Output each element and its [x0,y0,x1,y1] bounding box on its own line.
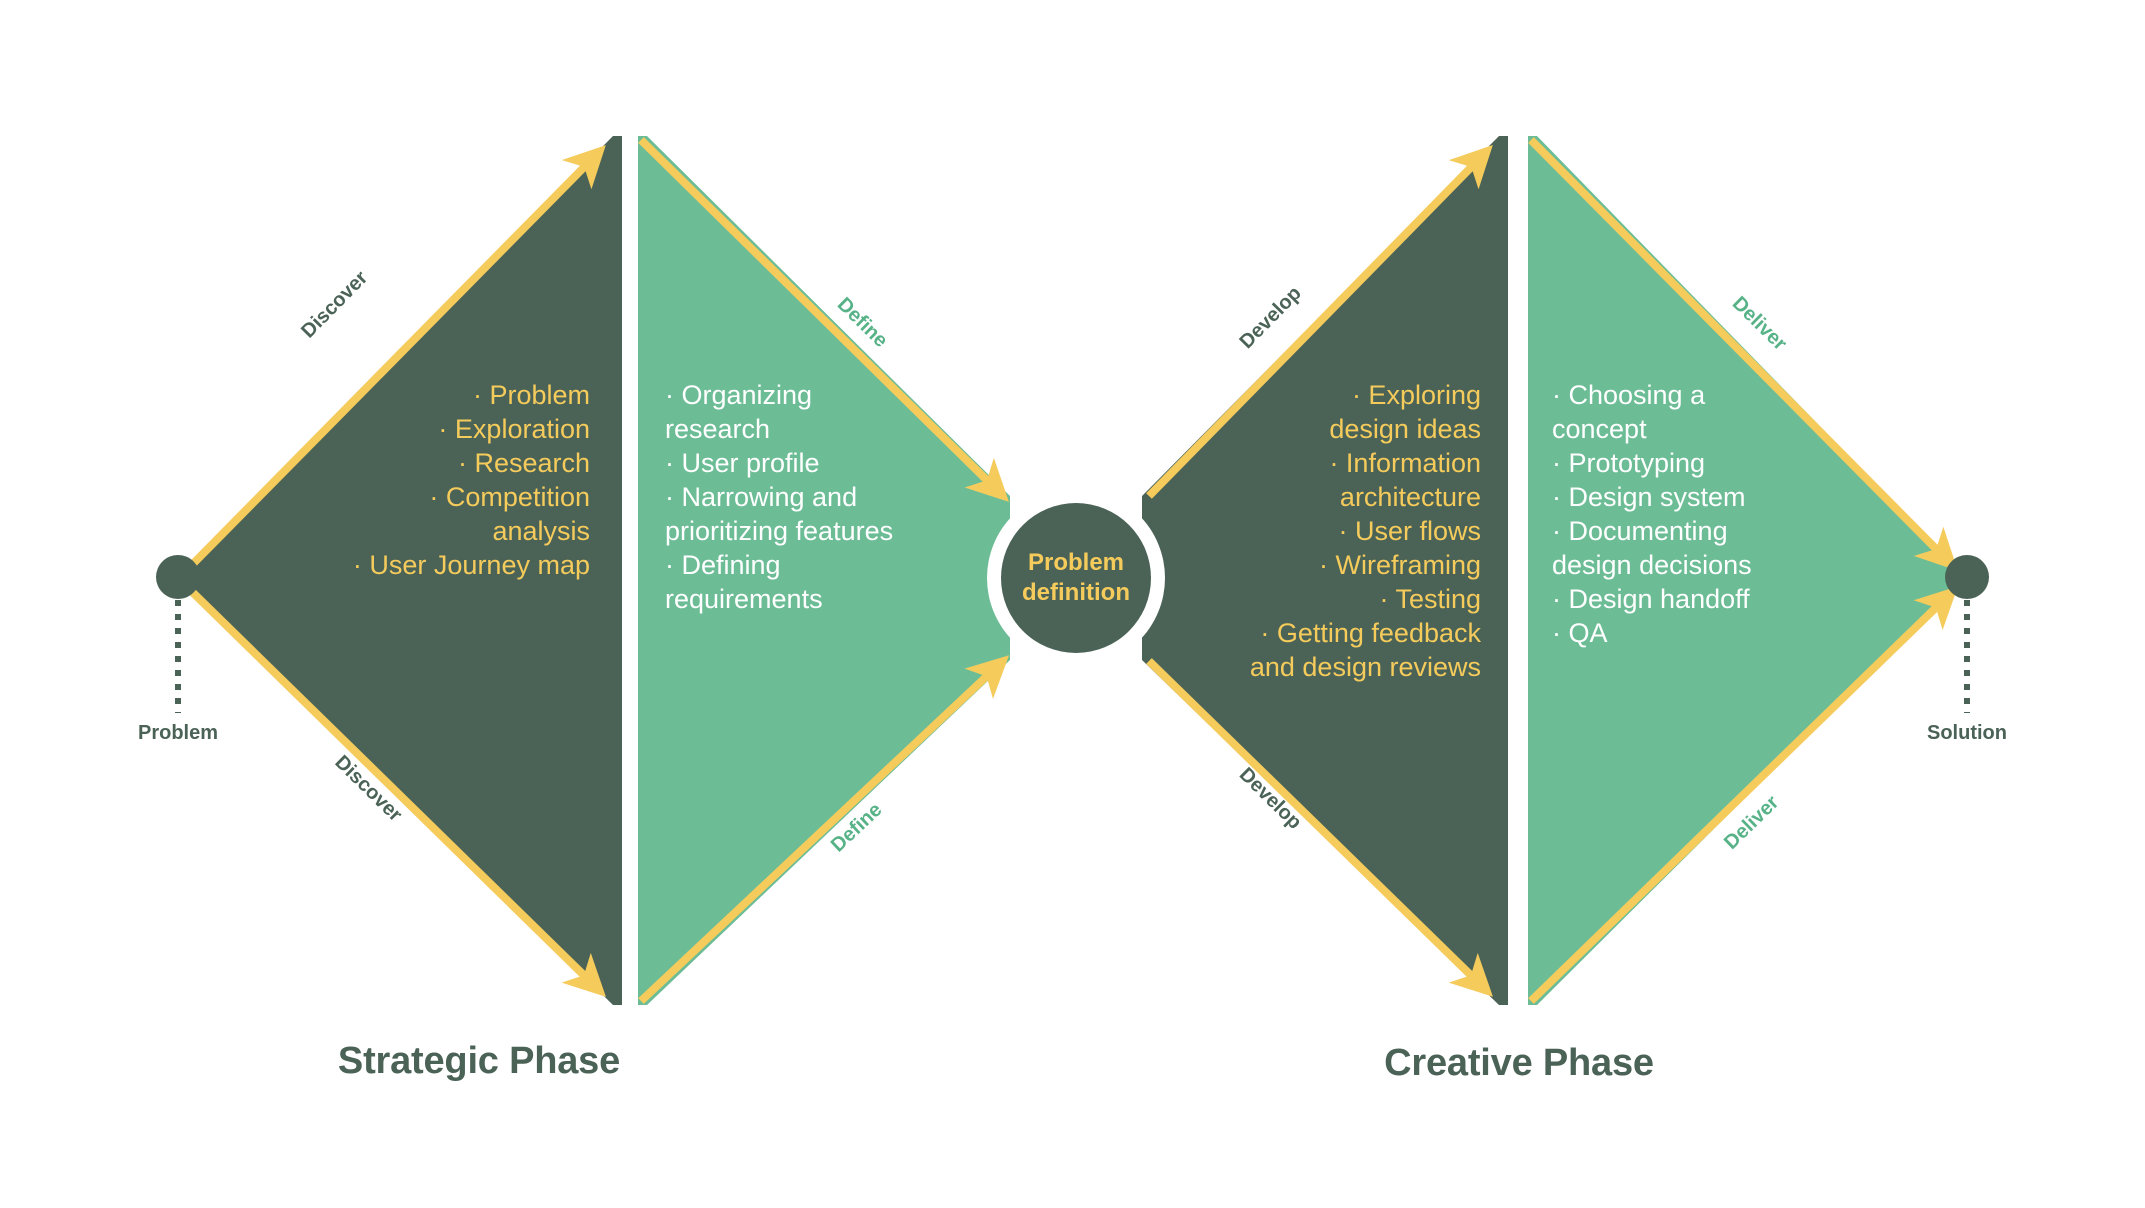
list-deliver: · Choosing a concept · Prototyping · Des… [1552,378,1892,650]
solution-endpoint-label: Solution [1867,722,2067,745]
phase-label-strategic: Strategic Phase [329,1040,629,1083]
double-diamond-diagram: Problem definition Discover Discover Def… [0,0,2145,1208]
problem-endpoint-label: Problem [78,722,278,745]
solution-endpoint-dot [1945,555,1989,599]
problem-endpoint-dot [156,555,200,599]
list-define: · Organizing research · User profile · N… [665,378,995,616]
phase-label-creative: Creative Phase [1369,1042,1669,1085]
list-develop: · Exploring design ideas · Information a… [1150,378,1481,684]
center-label: Problem definition [976,548,1176,608]
list-discover: · Problem · Exploration · Research · Com… [260,378,590,582]
